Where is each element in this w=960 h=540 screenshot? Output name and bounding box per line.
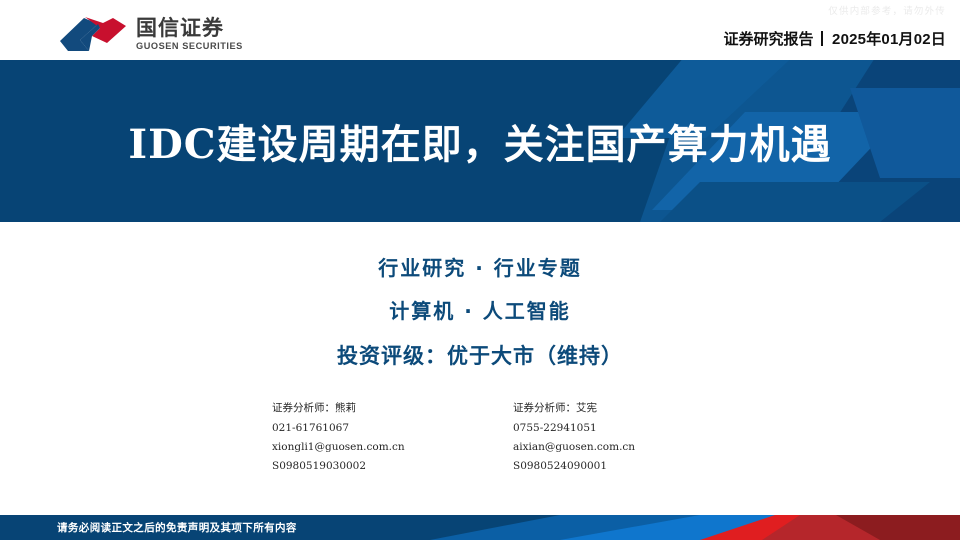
analyst-card: 证券分析师：艾宪 0755-22941051 aixian@guosen.com…	[513, 400, 688, 479]
meta-separator-icon	[821, 31, 824, 46]
investment-rating: 投资评级：优于大市（维持）	[0, 340, 960, 370]
report-type-label: 证券研究报告	[724, 28, 814, 49]
analyst-email[interactable]: aixian@guosen.com.cn	[513, 441, 688, 453]
analyst-phone: 0755-22941051	[513, 422, 688, 434]
analyst-name: 证券分析师：熊莉	[272, 400, 447, 415]
analyst-list: 证券分析师：熊莉 021-61761067 xiongli1@guosen.co…	[0, 400, 960, 479]
analyst-card: 证券分析师：熊莉 021-61761067 xiongli1@guosen.co…	[272, 400, 447, 479]
analyst-name: 证券分析师：艾宪	[513, 400, 688, 415]
report-date: 2025年01月02日	[832, 28, 946, 49]
sector-category: 计算机 · 人工智能	[0, 295, 960, 324]
logo-english-name: GUOSEN SECURITIES	[136, 41, 243, 51]
analyst-license: S0980524090001	[513, 460, 688, 472]
analyst-email[interactable]: xiongli1@guosen.com.cn	[272, 441, 447, 453]
confidential-watermark: 仅供内部参考，请勿外传	[828, 3, 946, 17]
cover-content: 行业研究 · 行业专题 计算机 · 人工智能 投资评级：优于大市（维持） 证券分…	[0, 222, 960, 512]
logo-chinese-name: 国信证券	[136, 17, 243, 40]
analyst-phone: 021-61761067	[272, 422, 447, 434]
guosen-securities-logo-icon	[58, 14, 132, 54]
footer-disclaimer: 请务必阅读正文之后的免责声明及其项下所有内容	[57, 515, 297, 540]
title-banner: IDC建设周期在即，关注国产算力机遇	[0, 60, 960, 222]
page-footer: 请务必阅读正文之后的免责声明及其项下所有内容	[0, 515, 960, 540]
report-meta: 证券研究报告 2025年01月02日	[724, 28, 946, 49]
page-title: IDC建设周期在即，关注国产算力机遇	[0, 60, 960, 222]
analyst-license: S0980519030002	[272, 460, 447, 472]
research-category: 行业研究 · 行业专题	[0, 252, 960, 281]
brand-logo[interactable]: 国信证券 GUOSEN SECURITIES	[58, 14, 243, 54]
page-header: 仅供内部参考，请勿外传 国信证券 GUOSEN SECURITIES 证券研究报…	[0, 0, 960, 60]
